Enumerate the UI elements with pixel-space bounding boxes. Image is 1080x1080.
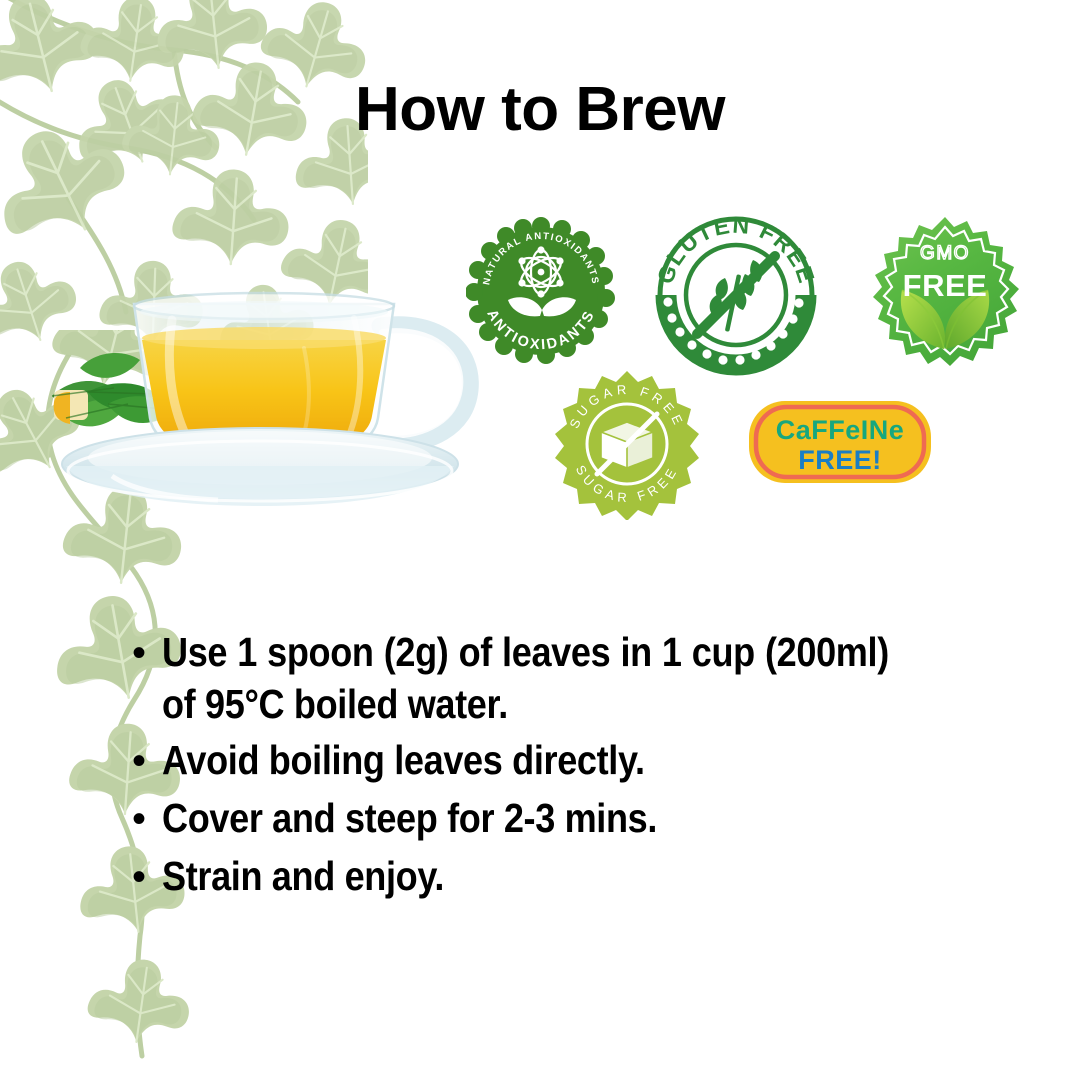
- bullet-marker: •: [132, 792, 162, 846]
- badge-gmo-free-top-text: GMO: [920, 243, 970, 264]
- bullet-marker: •: [132, 734, 162, 788]
- badge-gluten-free: GLUTEN FREE: [653, 212, 819, 378]
- prohibition-slash: [697, 256, 775, 334]
- badge-caffeine-free-bottom-text: FREE!: [798, 445, 882, 475]
- page-title: How to Brew: [0, 74, 1080, 145]
- badge-gmo-free-bottom-text: FREE: [903, 268, 988, 303]
- bullet-marker: •: [132, 850, 162, 904]
- instruction-text-4: Strain and enjoy.: [162, 850, 889, 902]
- how-to-brew-card: How to Brew: [0, 0, 1080, 1080]
- brewing-instructions-list: • Use 1 spoon (2g) of leaves in 1 cup (2…: [132, 626, 988, 908]
- cup-handle: [380, 325, 470, 444]
- list-item: • Use 1 spoon (2g) of leaves in 1 cup (2…: [132, 626, 988, 730]
- instruction-text-3: Cover and steep for 2-3 mins.: [162, 792, 889, 844]
- bullet-marker: •: [132, 626, 162, 680]
- list-item: • Avoid boiling leaves directly.: [132, 734, 988, 788]
- glass-teacup-of-green-tea-image: [22, 268, 492, 528]
- badge-caffeine-free: CaFFeINe FREE!: [744, 396, 936, 488]
- badge-gmo-free: GMO FREE: [862, 214, 1028, 380]
- badge-antioxidants: NATURAL ANTIOXIDANTS ANTIOXIDANTS: [466, 216, 616, 366]
- badge-sugar-free: SUGAR FREE SUGAR FREE: [551, 368, 703, 520]
- list-item: • Strain and enjoy.: [132, 850, 988, 904]
- badge-caffeine-free-top-text: CaFFeINe: [776, 415, 905, 445]
- list-item: • Cover and steep for 2-3 mins.: [132, 792, 988, 846]
- instruction-text-1: Use 1 spoon (2g) of leaves in 1 cup (200…: [162, 626, 889, 730]
- instruction-text-2: Avoid boiling leaves directly.: [162, 734, 889, 786]
- glass-saucer: [62, 428, 458, 506]
